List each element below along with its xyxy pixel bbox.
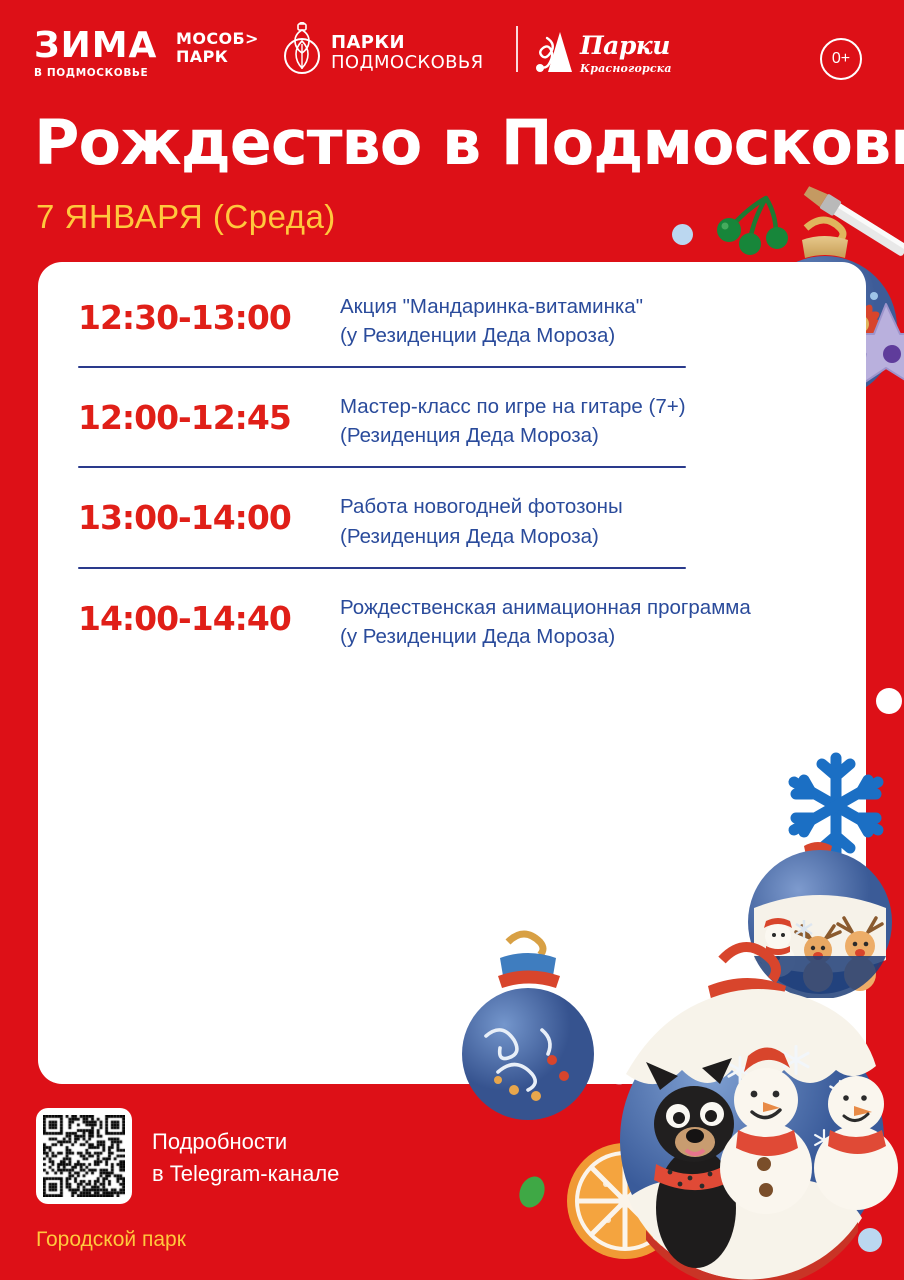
logo-krasnogorsk-sub: Красногорска [580, 62, 672, 75]
confetti-dot-green-2 [515, 1173, 549, 1212]
schedule-event-location: (у Резиденции Деда Мороза) [340, 321, 643, 350]
schedule-description: Рождественская анимационная программа(у … [340, 587, 751, 651]
schedule-event-name: Рождественская анимационная программа [340, 593, 751, 622]
poster-date: 7 ЯНВАРЯ (Среда) [36, 198, 336, 236]
confetti-dot-white-1 [876, 688, 902, 714]
schedule-description: Работа новогодней фотозоны(Резиденция Де… [340, 486, 623, 550]
orange-slice-icon [564, 1140, 686, 1262]
header-logo-bar: ЗИМА В ПОДМОСКОВЬЕ МОСОБ> ПАРК ПАРКИ ПО [0, 0, 904, 100]
poster-root: ЗИМА В ПОДМОСКОВЬЕ МОСОБ> ПАРК ПАРКИ ПО [0, 0, 904, 1280]
logo-zima-main: ЗИМА [34, 28, 174, 64]
schedule-description: Мастер-класс по игре на гитаре (7+)(Рези… [340, 386, 686, 450]
schedule-time: 14:00-14:40 [78, 587, 340, 637]
age-rating-badge: 0+ [820, 38, 862, 80]
schedule-time: 12:00-12:45 [78, 386, 340, 436]
logo-mosobpark-line2: ПАРК [176, 48, 259, 66]
schedule-event-location: (у Резиденции Деда Мороза) [340, 622, 751, 651]
schedule-event-name: Мастер-класс по игре на гитаре (7+) [340, 392, 686, 421]
schedule-event-location: (Резиденция Деда Мороза) [340, 421, 686, 450]
logo-divider [516, 26, 518, 72]
schedule-row: 14:00-14:40Рождественская анимационная п… [38, 569, 866, 667]
pinecone-ornament-icon [282, 22, 322, 83]
logo-parki-krasnogorska: Парки Красногорска [534, 28, 672, 83]
schedule-event-name: Работа новогодней фотозоны [340, 492, 623, 521]
schedule-event-name: Акция "Мандаринка-витаминка" [340, 292, 643, 321]
logo-mosobpark-line1: МОСОБ> [176, 30, 259, 48]
venue-label: Городской парк [36, 1228, 186, 1252]
logo-krasnogorsk-main: Парки [580, 31, 670, 60]
schedule-time: 12:30-13:00 [78, 286, 340, 336]
logo-parki-line1: ПАРКИ [331, 32, 405, 53]
confetti-dot-lightblue-1 [672, 224, 693, 245]
schedule-description: Акция "Мандаринка-витаминка"(у Резиденци… [340, 286, 643, 350]
paintbrush-icon [794, 178, 904, 268]
logo-parki-podmoskovya: ПАРКИ ПОДМОСКОВЬЯ [282, 22, 484, 83]
logo-zima-sub: В ПОДМОСКОВЬЕ [34, 67, 174, 79]
logo-mosobpark: МОСОБ> ПАРК [176, 30, 259, 67]
logo-zima-v-podmoskovye: ЗИМА В ПОДМОСКОВЬЕ [34, 28, 174, 79]
holly-berries-icon [706, 192, 798, 262]
telegram-caption: Подробности в Telegram-канале [152, 1126, 339, 1190]
schedule-row: 12:00-12:45Мастер-класс по игре на гитар… [38, 368, 866, 466]
confetti-dot-lightblue-2 [858, 1228, 882, 1252]
telegram-caption-line1: Подробности [152, 1126, 339, 1158]
telegram-caption-line2: в Telegram-канале [152, 1158, 339, 1190]
schedule-row: 13:00-14:00Работа новогодней фотозоны(Ре… [38, 468, 866, 566]
treble-clef-tree-icon [534, 28, 574, 83]
schedule-list: 12:30-13:00Акция "Мандаринка-витаминка"(… [38, 268, 866, 667]
schedule-event-location: (Резиденция Деда Мороза) [340, 522, 623, 551]
poster-title: Рождество в Подмосковье [34, 112, 874, 174]
schedule-time: 13:00-14:00 [78, 486, 340, 536]
schedule-row: 12:30-13:00Акция "Мандаринка-витаминка"(… [38, 268, 866, 366]
logo-parki-line2: ПОДМОСКОВЬЯ [331, 52, 484, 73]
qr-code[interactable] [36, 1108, 132, 1204]
